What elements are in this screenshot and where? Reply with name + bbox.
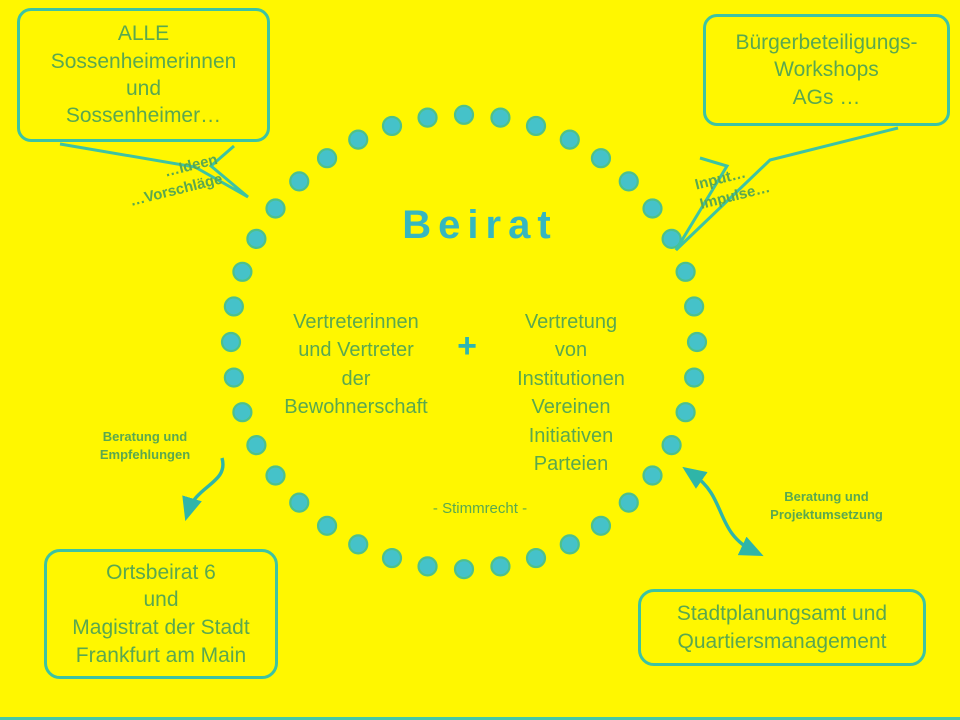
circle-dot: [233, 403, 251, 421]
plus-icon: +: [444, 329, 490, 363]
circle-dot: [290, 172, 308, 190]
bubble-right-label: Bürgerbeteiligungs-WorkshopsAGs …: [735, 29, 917, 111]
circle-dot: [663, 436, 681, 454]
bubble-left-label: ALLESossenheimerinnenundSossenheimer…: [51, 20, 237, 129]
circle-dot: [592, 149, 610, 167]
circle-dot: [561, 131, 579, 149]
circle-dot: [222, 333, 240, 351]
circle-dot: [349, 535, 367, 553]
circle-dot: [349, 131, 367, 149]
bubble-alle-sossenheimer: ALLESossenheimerinnenundSossenheimer…: [17, 8, 270, 142]
circle-dot: [688, 333, 706, 351]
circle-dot: [318, 517, 336, 535]
circle-dot: [419, 557, 437, 575]
circle-dot: [527, 117, 545, 135]
annotation-beratung-empfehlungen: Beratung undEmpfehlungen: [79, 428, 211, 463]
circle-dot: [225, 297, 243, 315]
circle-dot: [455, 560, 473, 578]
circle-dot: [419, 109, 437, 127]
circle-dot: [620, 172, 638, 190]
circle-dot: [267, 467, 285, 485]
page-title: Beirat: [0, 203, 960, 248]
circle-dot: [677, 403, 695, 421]
circle-dot: [527, 549, 545, 567]
box-bottom-left-label: Ortsbeirat 6undMagistrat der StadtFrankf…: [72, 559, 249, 670]
center-column-left: Vertreterinnenund VertreterderBewohnersc…: [275, 308, 437, 422]
circle-dot: [685, 369, 703, 387]
circle-dot: [225, 369, 243, 387]
box-bottom-right-label: Stadtplanungsamt undQuartiersmanagement: [677, 600, 887, 655]
circle-dot: [383, 117, 401, 135]
annotation-beratung-projektumsetzung: Beratung undProjektumsetzung: [744, 488, 909, 523]
circle-dot: [491, 557, 509, 575]
box-ortsbeirat-magistrat: Ortsbeirat 6undMagistrat der StadtFrankf…: [44, 549, 278, 679]
circle-dot: [561, 535, 579, 553]
circle-dot: [455, 106, 473, 124]
box-stadtplanungsamt-quartiersmanagement: Stadtplanungsamt undQuartiersmanagement: [638, 589, 926, 666]
circle-dot: [383, 549, 401, 567]
circle-dot: [491, 109, 509, 127]
circle-dot: [318, 149, 336, 167]
bubble-buergerbeteiligungs-workshops: Bürgerbeteiligungs-WorkshopsAGs …: [703, 14, 950, 126]
center-column-right: VertretungvonInstitutionenVereinenInitia…: [491, 308, 651, 478]
circle-dot: [685, 297, 703, 315]
circle-dot: [247, 436, 265, 454]
diagram-canvas: ALLESossenheimerinnenundSossenheimer… Bü…: [0, 0, 960, 720]
circle-dot: [592, 517, 610, 535]
circle-dot: [233, 263, 251, 281]
circle-dot: [677, 263, 695, 281]
